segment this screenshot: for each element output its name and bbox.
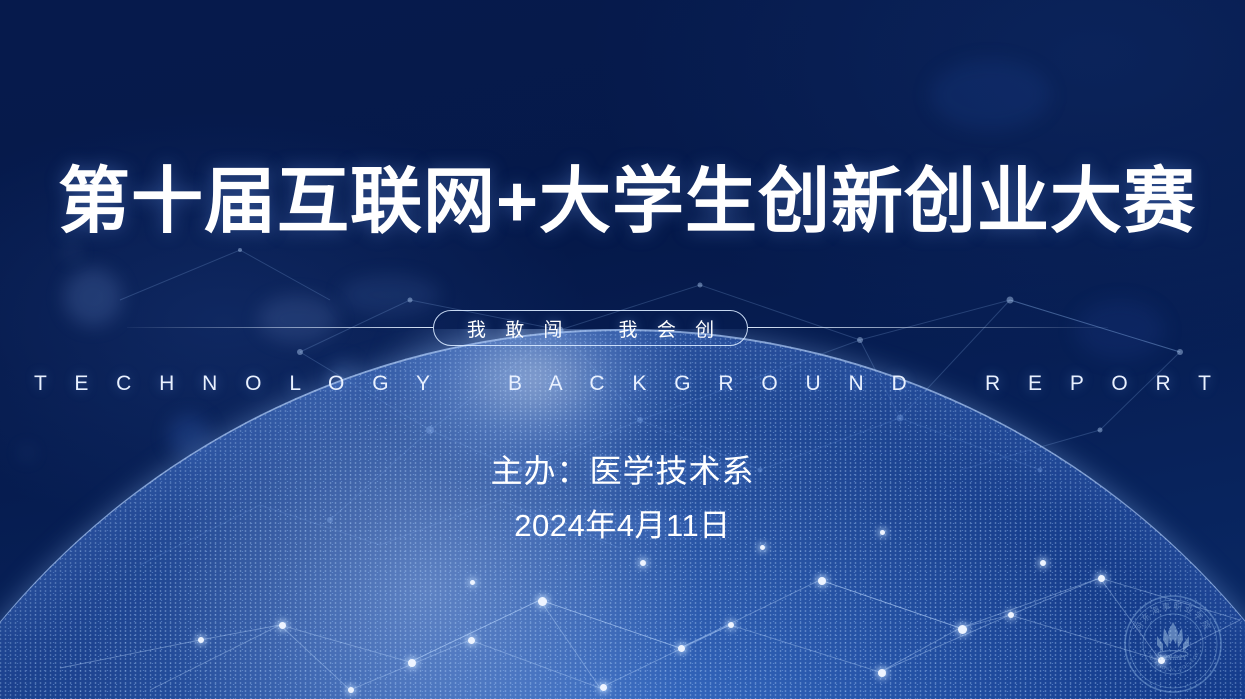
network-constellation [0,0,1245,699]
host-line: 主办：医学技术系 [0,446,1245,492]
particle [198,637,204,643]
rule-left [127,327,433,328]
particle [348,687,354,693]
globe-network-lines [0,0,1245,699]
particle [728,622,734,628]
particle [678,645,685,652]
particle [538,597,547,606]
slogan-text: 我 敢 闯 我 会 创 [460,315,721,342]
seal-icon: 河东海事职业学院 VOCATIONAL COLLEGE HDHSZY [1121,592,1225,696]
slogan-pill: 我 敢 闯 我 会 创 [433,310,748,346]
particle [760,545,765,550]
particle [958,625,967,634]
presentation-slide: 第十届互联网+大学生创新创业大赛 我 敢 闯 我 会 创 T E C H N O… [0,0,1245,699]
particle [408,659,416,667]
particle [279,622,286,629]
slide-title: 第十届互联网+大学生创新创业大赛 [58,142,1196,247]
bokeh-dot [66,246,78,258]
particle [818,577,826,585]
english-subtitle: T E C H N O L O G Y B A C K G R O U N D … [0,372,1245,396]
particle [878,669,886,677]
bokeh-dot [930,60,1050,130]
particle [470,580,475,585]
bokeh-dot [340,275,440,315]
date-line: 2024年4月11日 [0,500,1245,545]
particle [1008,612,1014,618]
particle [468,637,475,644]
rule-right [748,327,1108,328]
university-seal-logo: 河东海事职业学院 VOCATIONAL COLLEGE HDHSZY [1121,592,1225,696]
particle [1098,575,1105,582]
particle [600,684,607,691]
particle [1040,560,1046,566]
particle [640,560,646,566]
slogan-ribbon: 我 敢 闯 我 会 创 [0,310,1245,346]
svg-text:HDHSZY: HDHSZY [1159,654,1188,662]
